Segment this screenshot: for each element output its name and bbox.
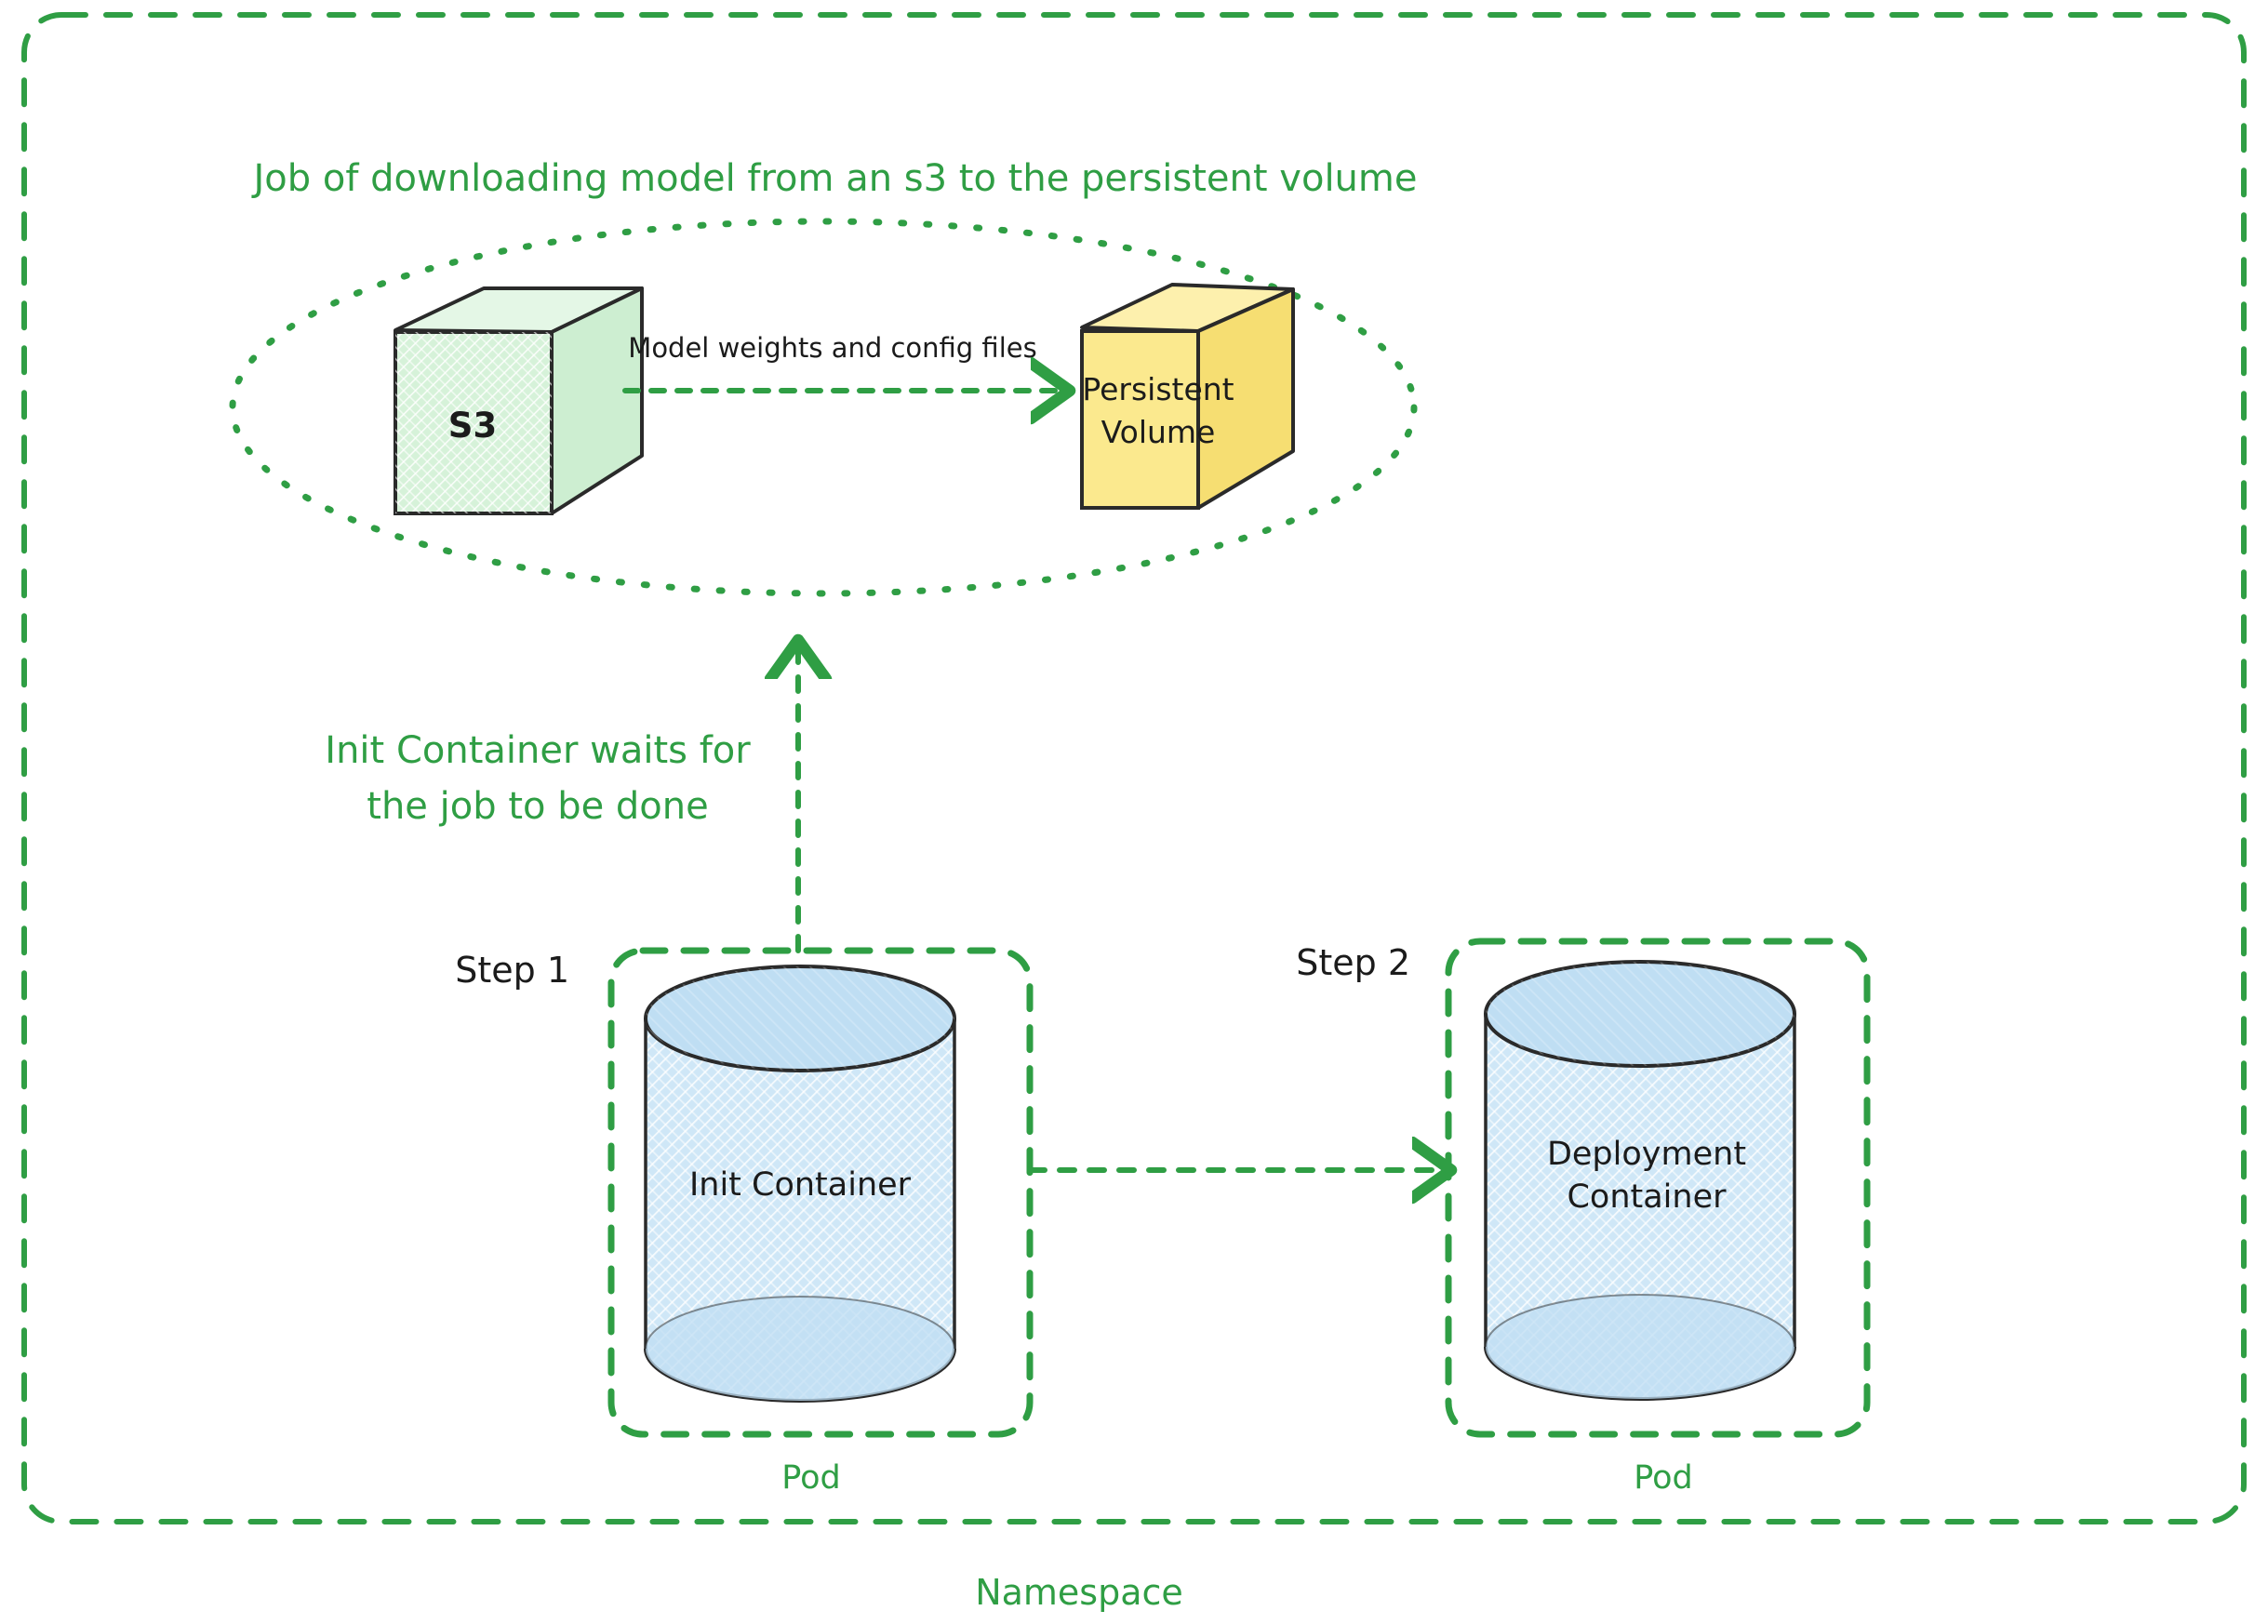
persistent-volume-cube: Persistent Volume <box>1082 285 1293 508</box>
job-title: Job of downloading model from an s3 to t… <box>251 157 1418 200</box>
wait-arrow-group: Init Container waits for the job to be d… <box>325 651 798 951</box>
transfer-arrow-label: Model weights and config files <box>628 332 1036 364</box>
pod-1-cylinder: Init Container <box>646 966 954 1401</box>
diagram-canvas: S3 Model weights and config files Persis… <box>0 0 2268 1624</box>
pv-cube-label-line1: Persistent <box>1082 371 1234 407</box>
wait-arrow-label-line1: Init Container waits for <box>325 729 751 772</box>
pod-1-step-label: Step 1 <box>455 950 569 991</box>
diagram-svg: S3 Model weights and config files Persis… <box>0 0 2268 1624</box>
pod-2-cylinder: Deployment Container <box>1486 962 1794 1399</box>
pod-2-step-label: Step 2 <box>1296 942 1410 983</box>
pod-2-cylinder-label-line1: Deployment <box>1547 1136 1746 1173</box>
pv-cube-label-line2: Volume <box>1101 414 1216 450</box>
namespace-label: Namespace <box>975 1572 1183 1613</box>
pod-2: Deployment Container Step 2 Pod <box>1296 941 1867 1497</box>
pod-2-cylinder-label-line2: Container <box>1567 1178 1727 1216</box>
pod-1: Init Container Step 1 Pod <box>455 950 1030 1497</box>
transfer-arrow-group: Model weights and config files <box>625 332 1059 391</box>
wait-arrow-label-line2: the job to be done <box>367 785 708 828</box>
pod-1-cylinder-label-line1: Init Container <box>689 1166 912 1204</box>
pod-2-label: Pod <box>1634 1459 1693 1497</box>
pod-1-label: Pod <box>781 1459 841 1497</box>
s3-cube-label: S3 <box>448 406 497 446</box>
pod-2-cylinder-top-hatch <box>1486 962 1794 1066</box>
s3-cube: S3 <box>395 288 642 513</box>
pod-1-cylinder-top-hatch <box>646 966 954 1071</box>
